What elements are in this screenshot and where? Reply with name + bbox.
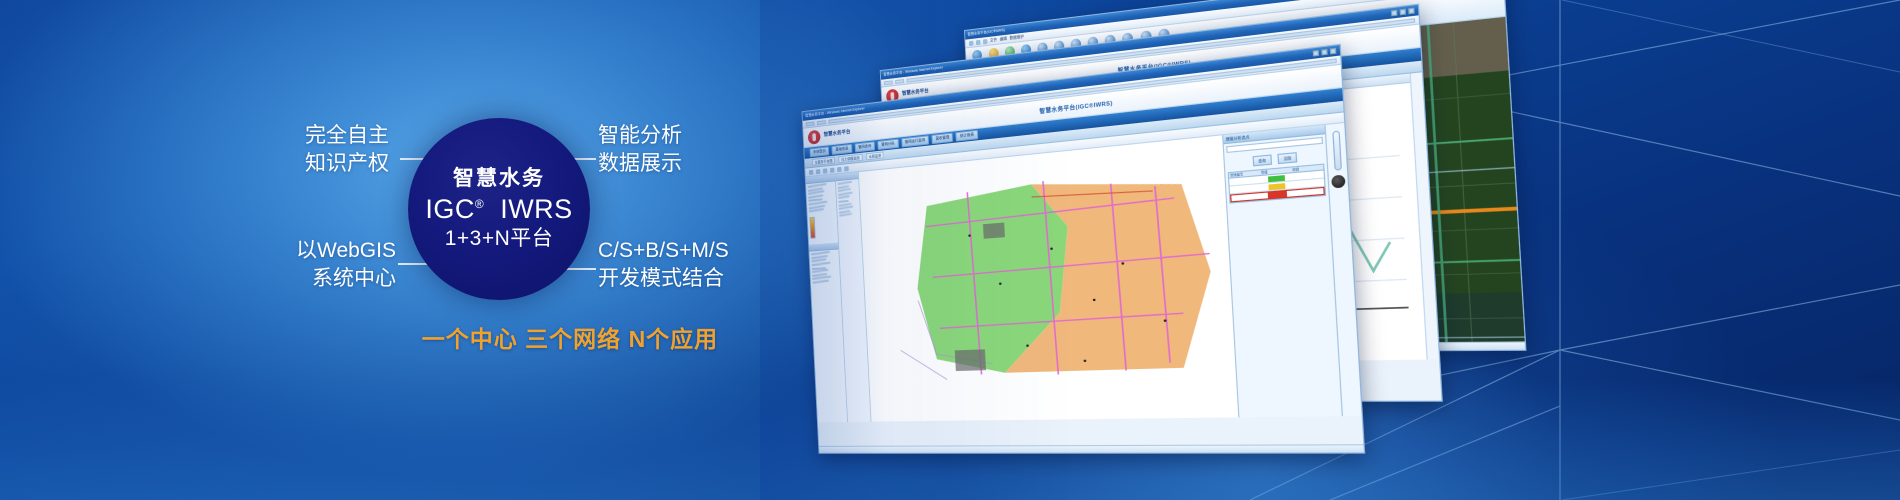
burst-clear-button[interactable]: 清除 xyxy=(1277,152,1297,164)
forward-icon[interactable] xyxy=(817,120,826,125)
measure-icon[interactable] xyxy=(837,166,842,171)
burst-analysis-dialog[interactable]: 爆管分析选点 查询 清除 管线编号 管径 材质 xyxy=(1222,125,1342,417)
hero-banner: 完全自主 知识产权 以WebGIS 系统中心 智能分析 数据展示 C/S+B/S… xyxy=(0,0,1900,500)
save-icon[interactable] xyxy=(983,39,988,44)
feature-top-left-line1: 完全自主 xyxy=(305,124,389,147)
feature-top-right-line1: 智能分析 xyxy=(598,124,682,147)
sub-tab-quality[interactable]: 水质监测 xyxy=(866,151,884,160)
legend-color-ramp xyxy=(809,217,815,239)
file-icon[interactable] xyxy=(969,40,974,45)
toc-tree[interactable] xyxy=(836,179,860,219)
feature-bottom-left-line2: 系统中心 xyxy=(296,265,396,293)
zoom-slider[interactable] xyxy=(1332,131,1342,171)
water-drop-logo-icon xyxy=(808,129,821,144)
feature-top-left: 完全自主 知识产权 xyxy=(305,122,389,179)
edit-icon[interactable] xyxy=(976,39,981,44)
front-window[interactable]: 智慧水务平台 - Windows Internet Explorer 智慧水务平… xyxy=(801,44,1365,454)
feature-bottom-right-line1: C/S+B/S+M/S xyxy=(598,239,729,262)
select-icon[interactable] xyxy=(830,167,835,172)
feature-bottom-right: C/S+B/S+M/S 开发模式结合 xyxy=(598,237,729,294)
back-icon[interactable] xyxy=(884,80,893,85)
attribute-list xyxy=(809,250,840,286)
menu-edit[interactable]: 编辑 xyxy=(1000,36,1007,43)
brand-circle-line3: 1+3+N平台 xyxy=(445,228,554,251)
back-icon[interactable] xyxy=(806,121,815,126)
menu-data[interactable]: 数据维护 xyxy=(1009,34,1024,42)
brand-circle-line2: IGC® IWRS xyxy=(425,195,572,224)
front-window-brand: 智慧水务平台 xyxy=(824,130,851,139)
feature-bottom-right-line2: 开发模式结合 xyxy=(598,265,729,293)
feature-bottom-left: 以WebGIS 系统中心 xyxy=(296,237,396,294)
zoom-in-icon[interactable] xyxy=(816,169,821,174)
sub-tab-platform-map[interactable]: 主营务平台图 xyxy=(812,157,836,166)
brand-igc: IGC xyxy=(425,194,475,224)
front-window-statusbar xyxy=(819,444,1364,453)
burst-query-button[interactable]: 查询 xyxy=(1252,154,1272,166)
menu-file[interactable]: 文件 xyxy=(990,37,997,44)
burst-result-table[interactable]: 管线编号 管径 材质 xyxy=(1228,164,1327,204)
screenshot-stack: 智慧水务平台(IGC®IWRS) 文件 编辑 数据维护 管网普查 设备管理 xyxy=(760,0,1460,500)
layer-tree[interactable] xyxy=(806,181,837,214)
feature-top-right-line2: 数据展示 xyxy=(598,150,682,178)
front-window-body: 爆管分析选点 查询 清除 管线编号 管径 材质 xyxy=(806,123,1362,422)
gis-map-canvas[interactable] xyxy=(859,135,1238,421)
print-icon[interactable] xyxy=(844,166,849,171)
registered-mark-icon: ® xyxy=(475,197,484,211)
feature-bottom-left-line1: 以WebGIS xyxy=(296,239,396,262)
front-window-app-title: 智慧水务平台(IGC®IWRS) xyxy=(1039,98,1113,115)
window-controls[interactable] xyxy=(1313,48,1337,57)
forward-icon[interactable] xyxy=(895,79,904,84)
zoom-out-icon[interactable] xyxy=(823,168,828,173)
pan-joystick-icon[interactable] xyxy=(1331,175,1345,189)
hero-tagline: 一个中心 三个网络 N个应用 xyxy=(360,320,780,354)
brand-circle: 智慧水务 IGC® IWRS 1+3+N平台 xyxy=(408,118,590,300)
window-controls[interactable] xyxy=(1391,8,1415,17)
pan-icon[interactable] xyxy=(809,169,814,174)
feature-top-right: 智能分析 数据展示 xyxy=(598,122,682,179)
feature-top-left-line2: 知识产权 xyxy=(305,150,389,178)
hero-info: 完全自主 知识产权 以WebGIS 系统中心 智能分析 数据展示 C/S+B/S… xyxy=(0,0,820,500)
brand-circle-line1: 智慧水务 xyxy=(453,168,545,191)
sub-tab-pressure[interactable]: 压力调度监测 xyxy=(839,154,863,163)
brand-iwrs: IWRS xyxy=(500,194,573,224)
